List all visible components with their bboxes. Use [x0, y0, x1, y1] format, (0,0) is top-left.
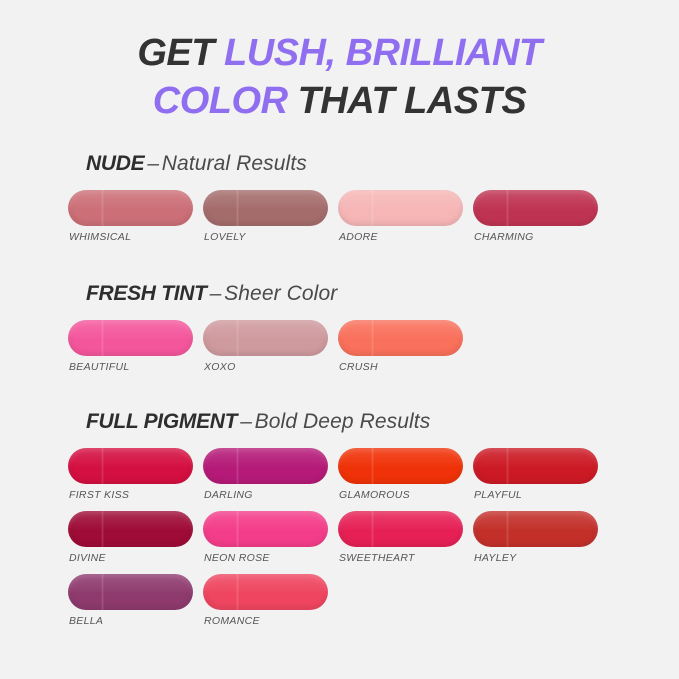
section-nude-name: NUDE [86, 152, 144, 175]
product-shade-chart: GET LUSH, BRILLIANT COLOR THAT LASTS NUD… [0, 0, 679, 679]
swatch-label-romance: ROMANCE [204, 615, 328, 627]
section-full-pigment-subtitle: Bold Deep Results [255, 410, 431, 433]
swatch-cell-crush[interactable]: CRUSH [338, 320, 463, 373]
swatch-color-xoxo[interactable] [203, 320, 328, 356]
swatch-color-crush[interactable] [338, 320, 463, 356]
swatch-color-beautiful[interactable] [68, 320, 193, 356]
swatch-label-glamorous: GLAMOROUS [339, 489, 463, 501]
swatch-color-hayley[interactable] [473, 511, 598, 547]
swatch-cell-playful[interactable]: PLAYFUL [473, 448, 598, 501]
swatch-cell-neon-rose[interactable]: NEON ROSE [203, 511, 328, 564]
section-fresh-tint: FRESH TINT–Sheer Color BEAUTIFUL XOXO CR… [68, 282, 628, 383]
swatch-label-adore: ADORE [339, 231, 463, 243]
headline-get-text: GET [137, 32, 224, 74]
swatch-color-darling[interactable] [203, 448, 328, 484]
swatch-cell-divine[interactable]: DIVINE [68, 511, 193, 564]
section-full-pigment-name: FULL PIGMENT [86, 410, 237, 433]
section-nude-title: NUDE–Natural Results [86, 152, 628, 176]
swatch-label-xoxo: XOXO [204, 361, 328, 373]
swatch-cell-bella[interactable]: BELLA [68, 574, 193, 627]
swatch-label-divine: DIVINE [69, 552, 193, 564]
section-full-pigment: FULL PIGMENT–Bold Deep Results FIRST KIS… [68, 410, 628, 637]
headline-line-2: COLOR THAT LASTS [0, 78, 679, 126]
swatch-cell-xoxo[interactable]: XOXO [203, 320, 328, 373]
swatch-cell-darling[interactable]: DARLING [203, 448, 328, 501]
swatch-label-sweetheart: SWEETHEART [339, 552, 463, 564]
page-title: GET LUSH, BRILLIANT COLOR THAT LASTS [0, 30, 679, 125]
swatch-color-sweetheart[interactable] [338, 511, 463, 547]
swatch-color-divine[interactable] [68, 511, 193, 547]
headline-line-1: GET LUSH, BRILLIANT [0, 30, 679, 78]
swatch-label-beautiful: BEAUTIFUL [69, 361, 193, 373]
section-nude-subtitle: Natural Results [162, 152, 307, 175]
section-full-pigment-title: FULL PIGMENT–Bold Deep Results [86, 410, 628, 434]
swatch-cell-lovely[interactable]: LOVELY [203, 190, 328, 243]
swatch-label-crush: CRUSH [339, 361, 463, 373]
swatch-color-whimsical[interactable] [68, 190, 193, 226]
swatch-color-glamorous[interactable] [338, 448, 463, 484]
section-full-pigment-dash: – [237, 410, 254, 433]
swatch-label-hayley: HAYLEY [474, 552, 598, 564]
swatch-cell-charming[interactable]: CHARMING [473, 190, 598, 243]
swatch-color-bella[interactable] [68, 574, 193, 610]
swatch-row: WHIMSICAL LOVELY ADORE CHARMING [68, 190, 628, 243]
swatch-color-charming[interactable] [473, 190, 598, 226]
swatch-color-neon-rose[interactable] [203, 511, 328, 547]
swatch-color-adore[interactable] [338, 190, 463, 226]
section-fresh-tint-dash: – [207, 282, 224, 305]
swatch-label-lovely: LOVELY [204, 231, 328, 243]
swatch-row: FIRST KISS DARLING GLAMOROUS PLAYFUL [68, 448, 628, 501]
swatch-label-darling: DARLING [204, 489, 328, 501]
swatch-color-lovely[interactable] [203, 190, 328, 226]
swatch-color-playful[interactable] [473, 448, 598, 484]
swatch-label-whimsical: WHIMSICAL [69, 231, 193, 243]
headline-that-lasts-text: THAT LASTS [288, 80, 527, 122]
swatch-label-charming: CHARMING [474, 231, 598, 243]
swatch-label-neon-rose: NEON ROSE [204, 552, 328, 564]
section-fresh-tint-subtitle: Sheer Color [224, 282, 337, 305]
swatch-cell-romance[interactable]: ROMANCE [203, 574, 328, 627]
swatch-row: DIVINE NEON ROSE SWEETHEART HAYLEY [68, 511, 628, 564]
section-fresh-tint-title: FRESH TINT–Sheer Color [86, 282, 628, 306]
swatch-label-first-kiss: FIRST KISS [69, 489, 193, 501]
swatch-cell-beautiful[interactable]: BEAUTIFUL [68, 320, 193, 373]
headline-accent-2: COLOR [153, 80, 288, 122]
swatch-cell-sweetheart[interactable]: SWEETHEART [338, 511, 463, 564]
swatch-cell-hayley[interactable]: HAYLEY [473, 511, 598, 564]
headline-accent-1: LUSH, BRILLIANT [224, 32, 542, 74]
swatch-label-playful: PLAYFUL [474, 489, 598, 501]
section-fresh-tint-name: FRESH TINT [86, 282, 207, 305]
swatch-cell-glamorous[interactable]: GLAMOROUS [338, 448, 463, 501]
swatch-cell-first-kiss[interactable]: FIRST KISS [68, 448, 193, 501]
swatch-row: BELLA ROMANCE [68, 574, 628, 627]
swatch-cell-whimsical[interactable]: WHIMSICAL [68, 190, 193, 243]
swatch-cell-adore[interactable]: ADORE [338, 190, 463, 243]
swatch-label-bella: BELLA [69, 615, 193, 627]
section-nude-dash: – [144, 152, 161, 175]
section-nude: NUDE–Natural Results WHIMSICAL LOVELY AD… [68, 152, 628, 253]
swatch-color-first-kiss[interactable] [68, 448, 193, 484]
swatch-row: BEAUTIFUL XOXO CRUSH [68, 320, 628, 373]
swatch-color-romance[interactable] [203, 574, 328, 610]
